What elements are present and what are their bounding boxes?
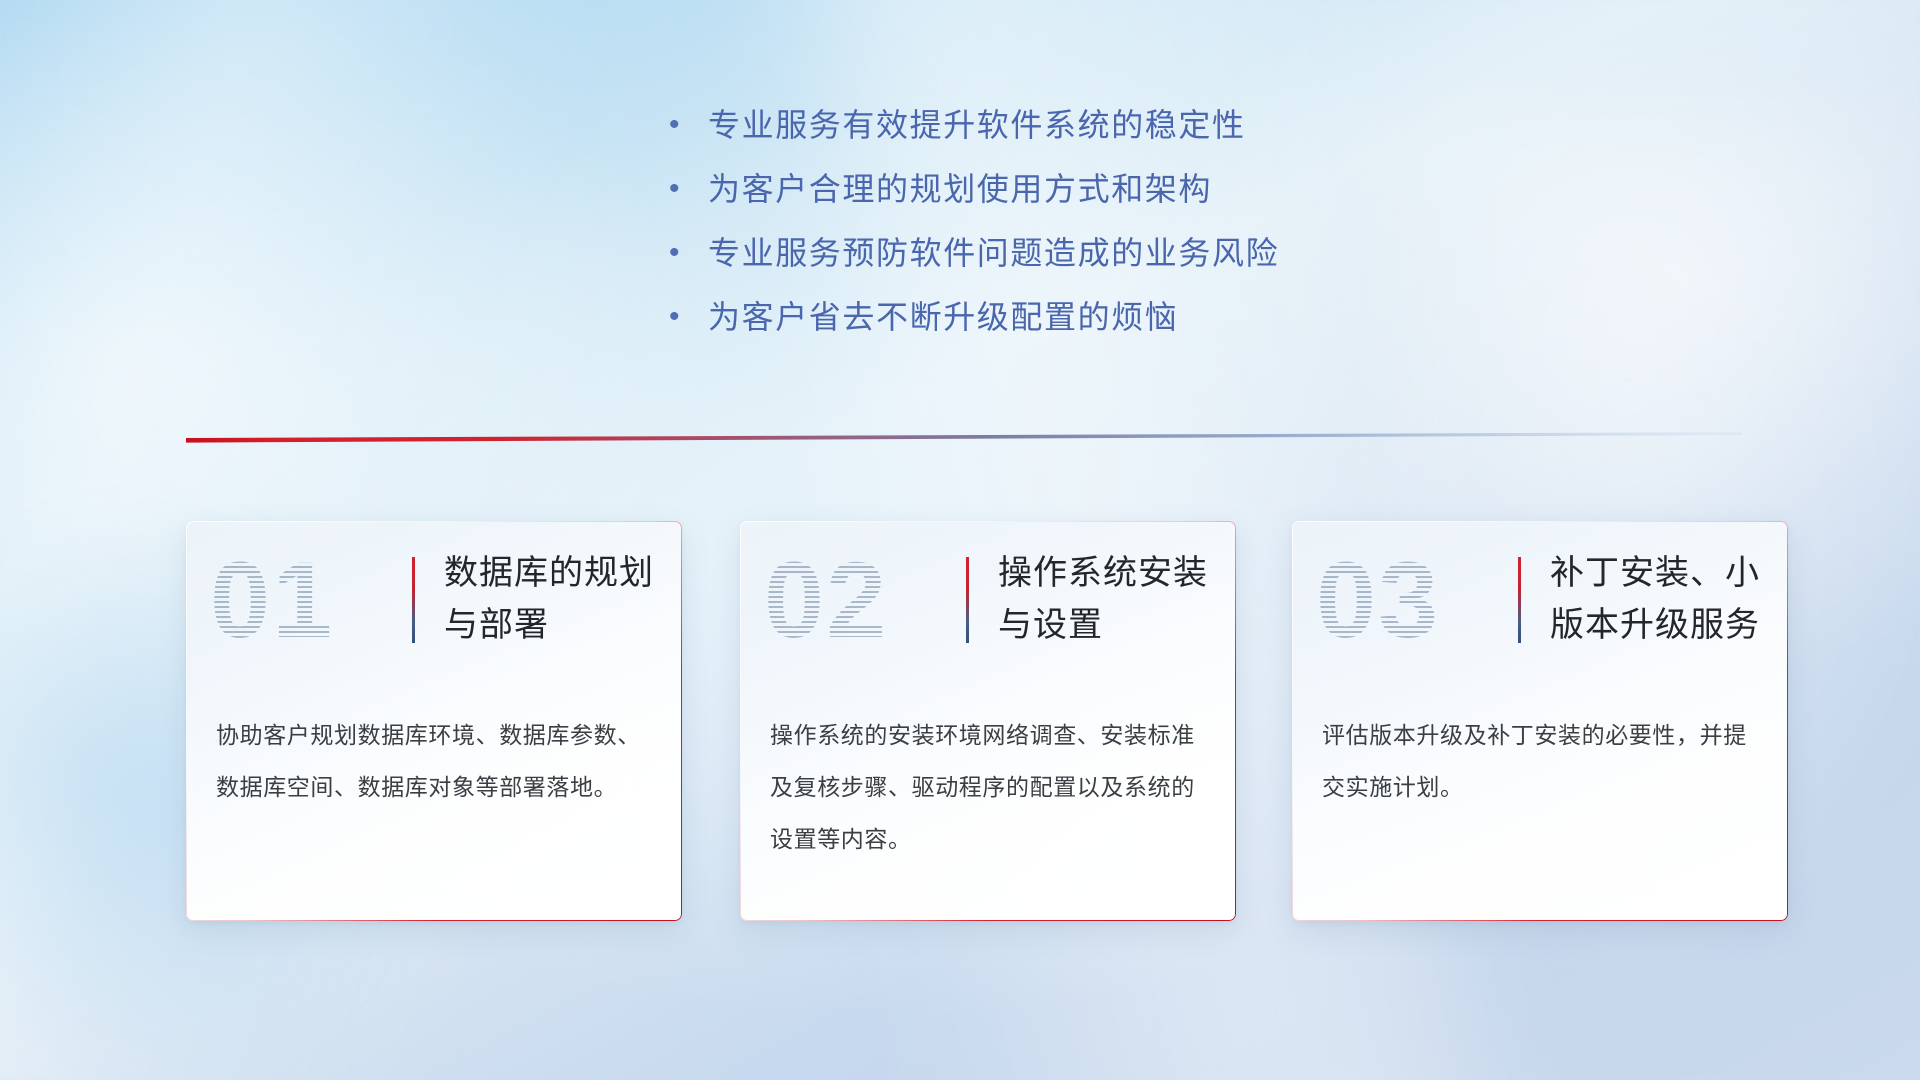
- service-card[interactable]: 02 操作系统安装与设置 操作系统的安装环境网络调查、安装标准及复核步骤、驱动程…: [740, 521, 1236, 921]
- card-title: 补丁安装、小版本升级服务: [1550, 547, 1780, 651]
- bullet-dot-icon: •: [660, 160, 708, 218]
- list-item: • 专业服务预防软件问题造成的业务风险: [660, 224, 1480, 288]
- card-title-rule: [1518, 557, 1521, 643]
- list-item: • 为客户合理的规划使用方式和架构: [660, 160, 1480, 224]
- bullet-dot-icon: •: [660, 96, 708, 154]
- card-number-watermark: 01: [210, 541, 400, 661]
- card-title: 数据库的规划与部署: [444, 547, 674, 651]
- card-description: 协助客户规划数据库环境、数据库参数、数据库空间、数据库对象等部署落地。: [216, 709, 656, 813]
- list-item: • 为客户省去不断升级配置的烦恼: [660, 288, 1480, 352]
- card-title: 操作系统安装与设置: [998, 547, 1228, 651]
- card-title-rule: [966, 557, 969, 643]
- list-item: • 专业服务有效提升软件系统的稳定性: [660, 96, 1480, 160]
- bullet-dot-icon: •: [660, 224, 708, 282]
- bullet-text: 为客户省去不断升级配置的烦恼: [708, 288, 1178, 346]
- bullet-dot-icon: •: [660, 288, 708, 346]
- bullet-text: 为客户合理的规划使用方式和架构: [708, 160, 1212, 218]
- card-description: 操作系统的安装环境网络调查、安装标准及复核步骤、驱动程序的配置以及系统的设置等内…: [770, 709, 1210, 865]
- card-title-rule: [412, 557, 415, 643]
- card-number-watermark: 03: [1316, 541, 1506, 661]
- service-card[interactable]: 01 数据库的规划与部署 协助客户规划数据库环境、数据库参数、数据库空间、数据库…: [186, 521, 682, 921]
- section-divider: [186, 424, 1742, 446]
- card-description: 评估版本升级及补丁安装的必要性，并提交实施计划。: [1322, 709, 1762, 813]
- bullet-text: 专业服务预防软件问题造成的业务风险: [708, 224, 1279, 282]
- service-card-group: 01 数据库的规划与部署 协助客户规划数据库环境、数据库参数、数据库空间、数据库…: [186, 521, 1746, 925]
- bullet-text: 专业服务有效提升软件系统的稳定性: [708, 96, 1246, 154]
- card-number-watermark: 02: [764, 541, 954, 661]
- benefits-bullet-list: • 专业服务有效提升软件系统的稳定性 • 为客户合理的规划使用方式和架构 • 专…: [660, 96, 1480, 352]
- service-card[interactable]: 03 补丁安装、小版本升级服务 评估版本升级及补丁安装的必要性，并提交实施计划。: [1292, 521, 1788, 921]
- tapered-divider-icon: [186, 424, 1742, 446]
